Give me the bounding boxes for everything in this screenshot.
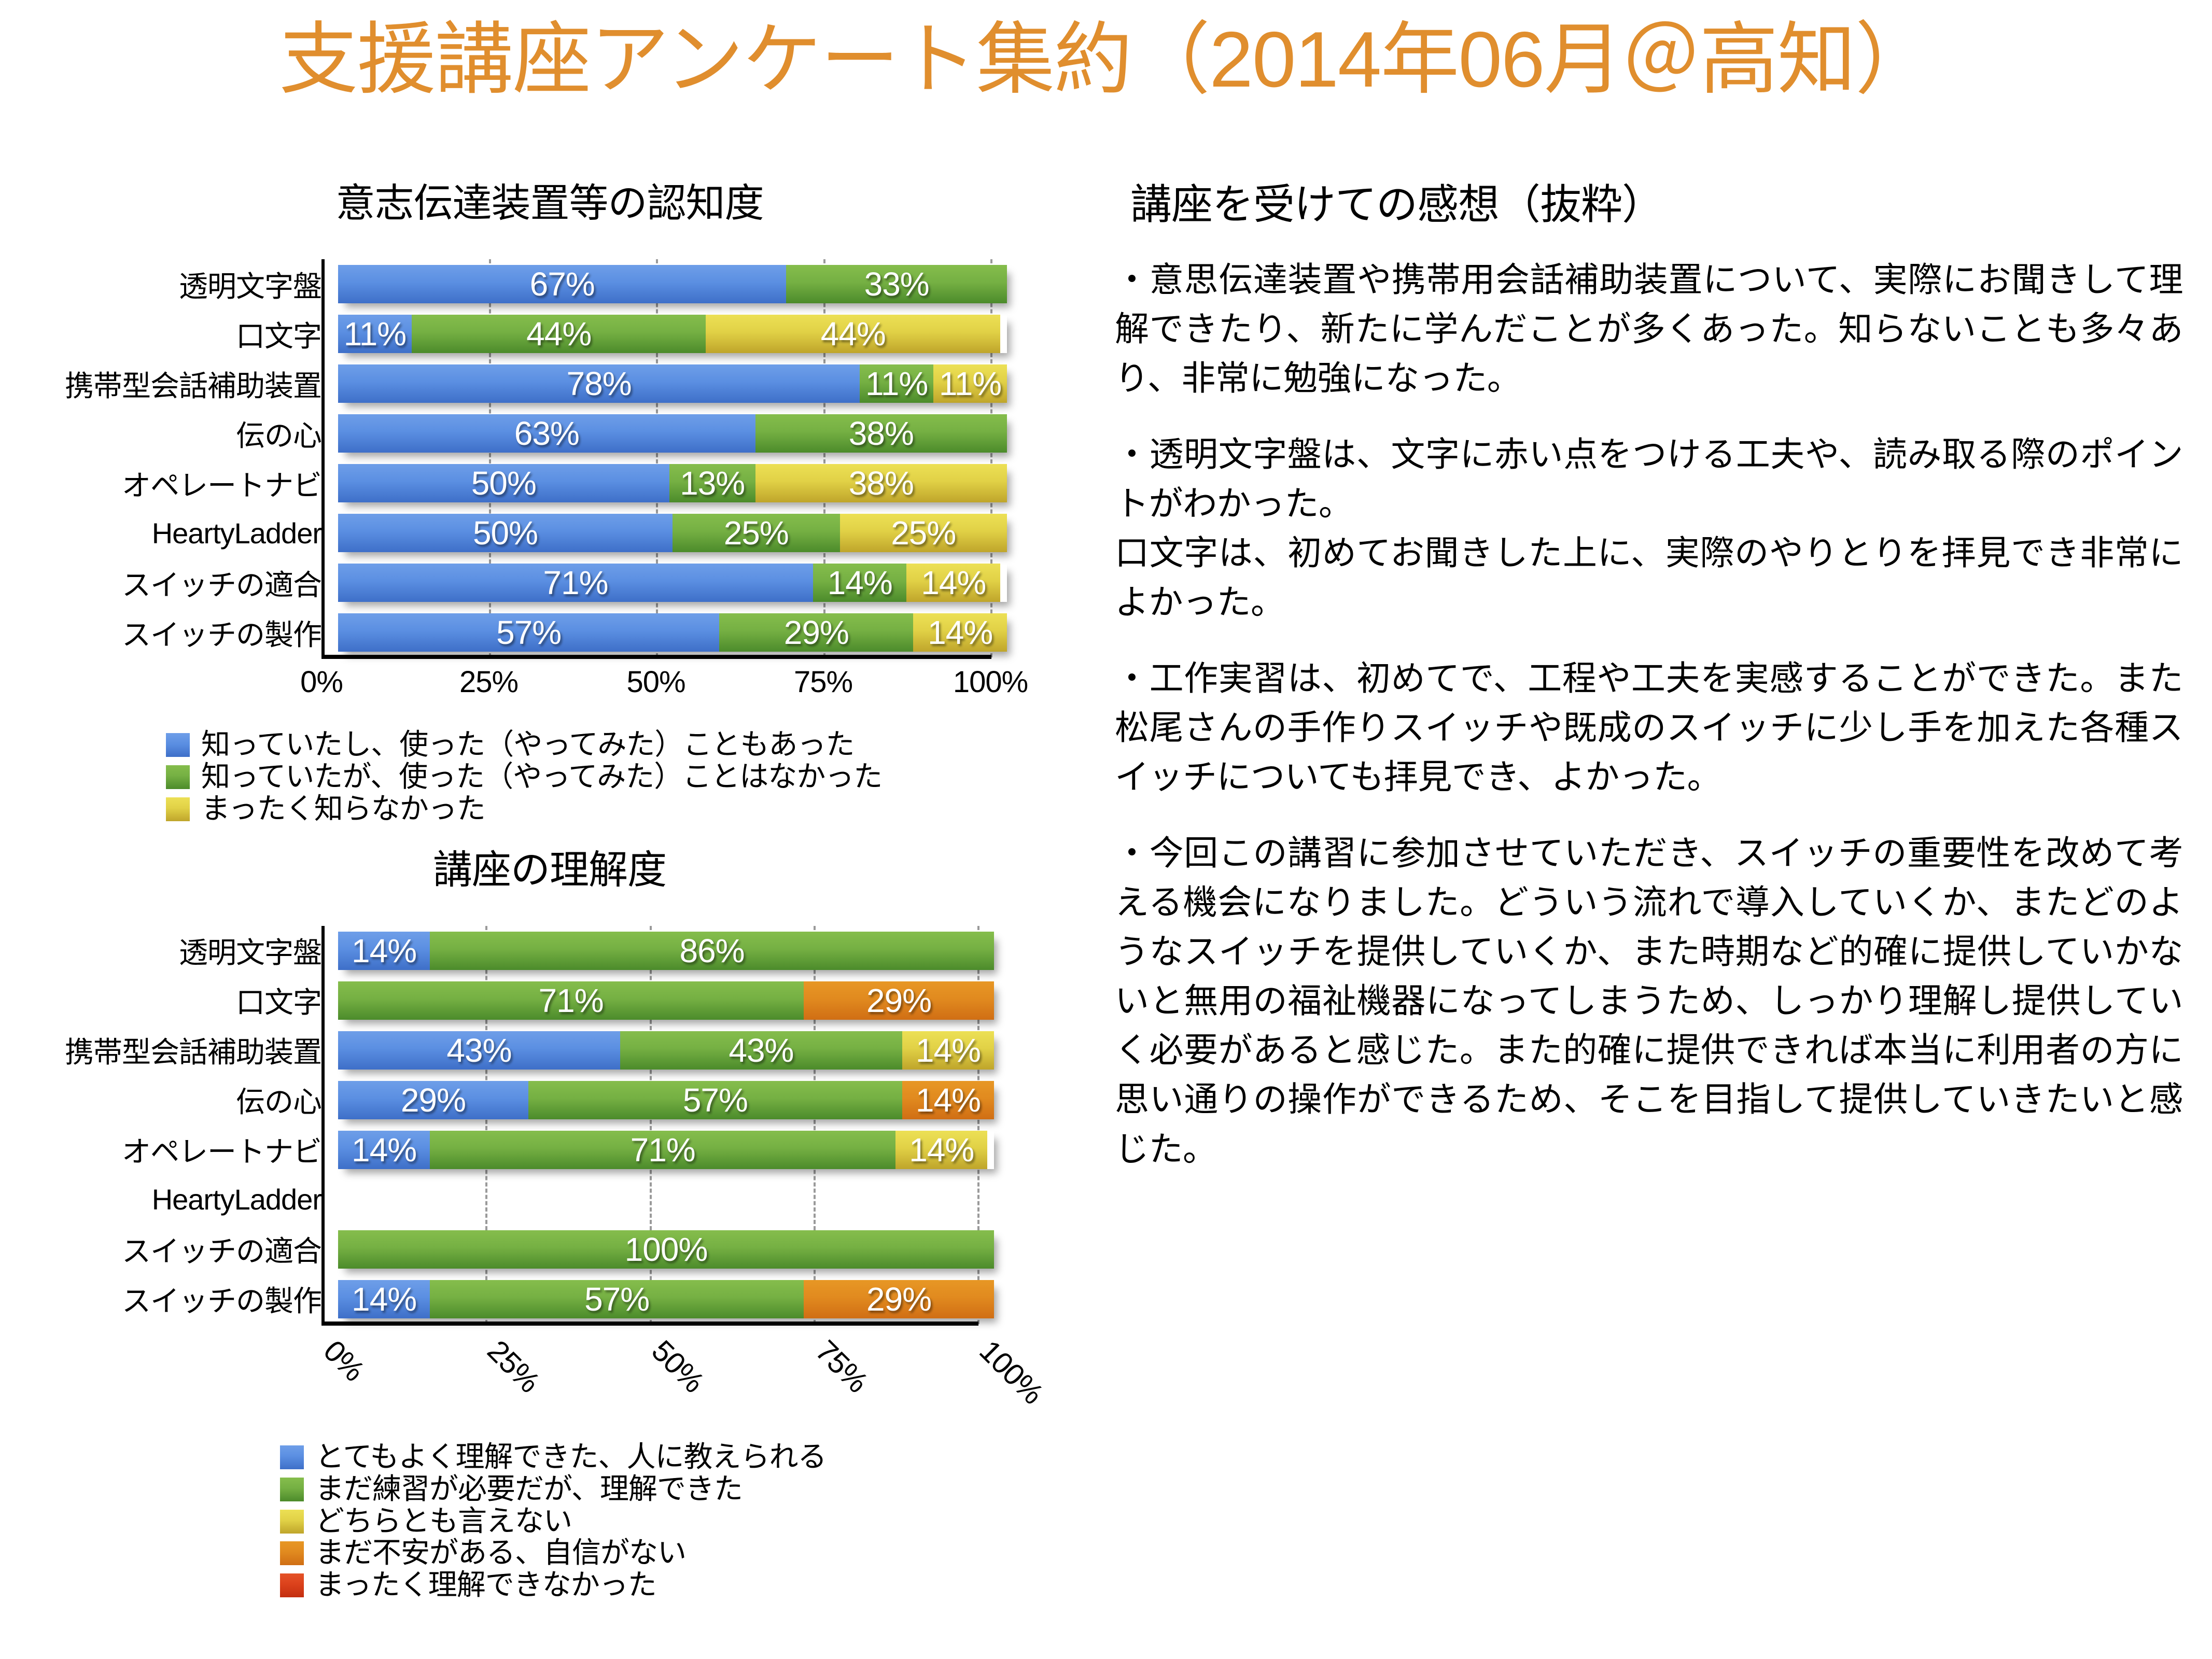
- x-axis-tick-label: 75%: [794, 665, 852, 699]
- bar-value-label: 33%: [864, 265, 929, 303]
- chart-awareness-legend: 知っていたし、使った（やってみた）こともあった知っていたが、使った（やってみた）…: [0, 729, 1099, 824]
- bar-value-label: 44%: [821, 315, 886, 353]
- bar-segment: 14%: [813, 564, 907, 602]
- bar-value-label: 71%: [539, 981, 604, 1020]
- bar-segment: 11%: [933, 364, 1007, 403]
- bar-category-label: 透明文字盤: [0, 930, 335, 972]
- bar-row: オペレートナビ50%13%38%: [0, 458, 1011, 508]
- impression-paragraph: ・今回この講習に参加させていただき、スイッチの重要性を改めて考える機会になりまし…: [1115, 828, 2183, 1173]
- bar-segment: 14%: [895, 1131, 987, 1169]
- bar-track: 71%14%14%: [338, 564, 1007, 602]
- bar-track: 63%38%: [338, 414, 1007, 453]
- legend-swatch-yellow: [166, 797, 190, 821]
- bar-segment: 71%: [338, 564, 813, 602]
- bar-track: 78%11%11%: [338, 364, 1007, 403]
- bar-segment: 44%: [706, 315, 1000, 353]
- bar-segment: 11%: [860, 364, 933, 403]
- bar-row: 伝の心63%38%: [0, 409, 1011, 458]
- bar-row: HeartyLadder: [0, 1175, 998, 1225]
- page-title: 支援講座アンケート集約（2014年06月＠高知）: [0, 15, 2212, 105]
- bar-value-label: 43%: [446, 1031, 511, 1070]
- bar-value-label: 14%: [352, 932, 416, 970]
- bar-category-label: HeartyLadder: [0, 516, 335, 550]
- bar-value-label: 71%: [631, 1131, 695, 1169]
- bar-row: 伝の心29%57%14%: [0, 1075, 998, 1125]
- legend-item[interactable]: まだ練習が必要だが、理解できた: [280, 1473, 1099, 1505]
- bar-value-label: 11%: [344, 315, 406, 353]
- bar-segment: 38%: [755, 464, 1007, 502]
- bar-value-label: 25%: [891, 514, 956, 552]
- legend-item[interactable]: まったく知らなかった: [166, 793, 1099, 824]
- bar-segment: 14%: [338, 1280, 430, 1318]
- bar-category-label: 口文字: [0, 979, 335, 1021]
- bar-segment: 13%: [669, 464, 755, 502]
- x-axis-tick-label: 0%: [300, 665, 343, 699]
- bar-row: スイッチの製作14%57%29%: [0, 1274, 998, 1324]
- bar-value-label: 14%: [352, 1280, 416, 1318]
- legend-swatch-red: [280, 1573, 304, 1597]
- bar-value-label: 38%: [849, 414, 914, 453]
- bar-row: 透明文字盤67%33%: [0, 259, 1011, 309]
- bar-row: オペレートナビ14%71%14%: [0, 1125, 998, 1175]
- bar-value-label: 14%: [828, 564, 892, 602]
- legend-swatch-green: [280, 1478, 304, 1501]
- bar-segment: 67%: [338, 265, 786, 303]
- bar-category-label: 伝の心: [0, 413, 335, 455]
- bar-row: 携帯型会話補助装置43%43%14%: [0, 1025, 998, 1075]
- bar-segment: 50%: [338, 514, 673, 552]
- bar-segment: 86%: [430, 932, 994, 970]
- bar-value-label: 57%: [496, 613, 561, 652]
- bar-value-label: 29%: [866, 981, 931, 1020]
- x-axis-tick-label: 100%: [953, 665, 1028, 699]
- bar-segment: 57%: [528, 1081, 902, 1119]
- bar-track: 67%33%: [338, 265, 1007, 303]
- bar-segment: 44%: [412, 315, 706, 353]
- bar-row: HeartyLadder50%25%25%: [0, 508, 1011, 558]
- legend-item[interactable]: 知っていたが、使った（やってみた）ことはなかった: [166, 761, 1099, 792]
- bar-track: 14%71%14%: [338, 1131, 994, 1169]
- bar-segment: 63%: [338, 414, 755, 453]
- bar-category-label: HeartyLadder: [0, 1183, 335, 1216]
- bar-segment: 38%: [755, 414, 1007, 453]
- legend-label: 知っていたが、使った（やってみた）ことはなかった: [201, 761, 882, 792]
- legend-label: まったく理解できなかった: [315, 1569, 656, 1600]
- chart-comprehension-legend: とてもよく理解できた、人に教えられるまだ練習が必要だが、理解できたどちらとも言え…: [0, 1441, 1099, 1601]
- bar-value-label: 71%: [543, 564, 608, 602]
- impression-paragraph: ・意思伝達装置や携帯用会話補助装置について、実際にお聞きして理解できたり、新たに…: [1115, 255, 2183, 403]
- x-axis-tick-label: 25%: [481, 1333, 547, 1399]
- impressions-heading: 講座を受けての感想（抜粋）: [1130, 171, 2183, 231]
- bar-value-label: 14%: [921, 564, 986, 602]
- bar-category-label: 伝の心: [0, 1079, 335, 1121]
- chart-comprehension-xaxis: 0%25%50%75%100%: [0, 1333, 1099, 1437]
- legend-item[interactable]: まだ不安がある、自信がない: [280, 1537, 1099, 1568]
- chart-awareness-title: 意志伝達装置等の認知度: [0, 171, 1099, 228]
- bar-value-label: 50%: [473, 514, 538, 552]
- bar-segment: 57%: [430, 1280, 804, 1318]
- bar-category-label: スイッチの製作: [0, 1278, 335, 1320]
- bar-value-label: 57%: [584, 1280, 649, 1318]
- bar-value-label: 100%: [625, 1230, 708, 1269]
- bar-segment: 14%: [906, 564, 1000, 602]
- bar-value-label: 43%: [729, 1031, 793, 1070]
- bar-value-label: 29%: [866, 1280, 931, 1318]
- bar-row: スイッチの適合71%14%14%: [0, 558, 1011, 608]
- chart-awareness-plot: 透明文字盤67%33%口文字11%44%44%携帯型会話補助装置78%11%11…: [0, 259, 1099, 657]
- bar-track: 11%44%44%: [338, 315, 1007, 353]
- bar-value-label: 11%: [865, 364, 928, 403]
- charts-column: 意志伝達装置等の認知度 透明文字盤67%33%口文字11%44%44%携帯型会話…: [0, 171, 1099, 1659]
- bar-value-label: 67%: [530, 265, 595, 303]
- bar-value-label: 11%: [939, 364, 1001, 403]
- bar-value-label: 63%: [514, 414, 579, 453]
- bar-segment: 14%: [913, 613, 1007, 652]
- chart-comprehension-plot: 透明文字盤14%86%口文字71%29%携帯型会話補助装置43%43%14%伝の…: [0, 926, 1099, 1324]
- bar-segment: 100%: [338, 1230, 994, 1269]
- chart-comprehension-title: 講座の理解度: [0, 838, 1099, 895]
- bar-track: 14%86%: [338, 932, 994, 970]
- bar-track: 50%13%38%: [338, 464, 1007, 502]
- chart-comprehension: 講座の理解度 透明文字盤14%86%口文字71%29%携帯型会話補助装置43%4…: [0, 838, 1099, 1601]
- bar-segment: 50%: [338, 464, 669, 502]
- legend-item[interactable]: 知っていたし、使った（やってみた）こともあった: [166, 729, 1099, 760]
- bar-segment: 29%: [804, 1280, 994, 1318]
- bar-value-label: 13%: [680, 464, 745, 502]
- legend-label: まだ不安がある、自信がない: [315, 1537, 686, 1568]
- legend-item[interactable]: とてもよく理解できた、人に教えられる: [280, 1441, 1099, 1472]
- bar-row: スイッチの製作57%29%14%: [0, 608, 1011, 657]
- bar-category-label: オペレートナビ: [0, 1129, 335, 1171]
- bar-segment: 78%: [338, 364, 860, 403]
- bar-segment: 11%: [338, 315, 412, 353]
- impressions-column: 講座を受けての感想（抜粋） ・意思伝達装置や携帯用会話補助装置について、実際にお…: [1115, 171, 2183, 1201]
- legend-label: とてもよく理解できた、人に教えられる: [315, 1441, 827, 1472]
- legend-label: どちらとも言えない: [315, 1506, 572, 1537]
- impression-paragraph: 口文字は、初めてお聞きした上に、実際のやりとりを拝見でき非常によかった。: [1115, 528, 2183, 627]
- bar-segment: 14%: [338, 932, 430, 970]
- legend-swatch-yellow: [280, 1510, 304, 1534]
- impression-paragraph: ・透明文字盤は、文字に赤い点をつける工夫や、読み取る際のポイントがわかった。: [1115, 430, 2183, 528]
- x-axis-tick-label: 100%: [973, 1333, 1050, 1411]
- bar-segment: 14%: [338, 1131, 430, 1169]
- bar-row: 携帯型会話補助装置78%11%11%: [0, 359, 1011, 409]
- bar-value-label: 44%: [526, 315, 591, 353]
- bar-value-label: 29%: [784, 613, 849, 652]
- bar-category-label: スイッチの適合: [0, 1228, 335, 1270]
- bar-segment: 25%: [840, 514, 1007, 552]
- bar-segment: 43%: [338, 1031, 620, 1070]
- legend-label: 知っていたし、使った（やってみた）こともあった: [201, 729, 854, 760]
- bar-track: 43%43%14%: [338, 1031, 994, 1070]
- bar-track: 50%25%25%: [338, 514, 1007, 552]
- bar-track: 100%: [338, 1230, 994, 1269]
- bar-value-label: 14%: [928, 613, 992, 652]
- bar-category-label: 透明文字盤: [0, 263, 335, 305]
- bar-track: 14%57%29%: [338, 1280, 994, 1318]
- bar-row: 透明文字盤14%86%: [0, 926, 998, 976]
- bar-segment: 71%: [430, 1131, 895, 1169]
- bar-value-label: 57%: [683, 1081, 748, 1119]
- x-axis-tick-label: 50%: [645, 1333, 710, 1399]
- bar-segment: 29%: [804, 981, 994, 1020]
- bar-segment: 14%: [902, 1031, 994, 1070]
- bar-value-label: 38%: [849, 464, 914, 502]
- x-axis-tick-label: 50%: [626, 665, 685, 699]
- bar-track: 57%29%14%: [338, 613, 1007, 652]
- bar-category-label: 口文字: [0, 313, 335, 355]
- impressions-body: ・意思伝達装置や携帯用会話補助装置について、実際にお聞きして理解できたり、新たに…: [1115, 255, 2183, 1174]
- bar-row: 口文字11%44%44%: [0, 309, 1011, 359]
- bar-category-label: 携帯型会話補助装置: [0, 1029, 335, 1071]
- bar-segment: 29%: [719, 613, 913, 652]
- bar-value-label: 25%: [724, 514, 789, 552]
- bar-value-label: 14%: [909, 1131, 974, 1169]
- bar-value-label: 14%: [352, 1131, 416, 1169]
- legend-swatch-blue: [166, 733, 190, 757]
- bar-segment: 71%: [338, 981, 804, 1020]
- bar-row: スイッチの適合100%: [0, 1225, 998, 1274]
- legend-swatch-green: [166, 765, 190, 789]
- bar-value-label: 14%: [916, 1031, 981, 1070]
- legend-item[interactable]: どちらとも言えない: [280, 1506, 1099, 1537]
- x-axis-tick-label: 0%: [317, 1333, 371, 1388]
- bar-track: 71%29%: [338, 981, 994, 1020]
- legend-label: まったく知らなかった: [201, 793, 485, 824]
- bar-track: [338, 1180, 994, 1219]
- bar-track: 29%57%14%: [338, 1081, 994, 1119]
- bar-value-label: 78%: [567, 364, 632, 403]
- legend-item[interactable]: まったく理解できなかった: [280, 1569, 1099, 1600]
- bar-value-label: 14%: [916, 1081, 981, 1119]
- bar-category-label: スイッチの適合: [0, 562, 335, 604]
- bar-segment: 33%: [786, 265, 1007, 303]
- chart-awareness: 意志伝達装置等の認知度 透明文字盤67%33%口文字11%44%44%携帯型会話…: [0, 171, 1099, 824]
- impression-paragraph: ・工作実習は、初めてで、工程や工夫を実感することができた。また松尾さんの手作りス…: [1115, 654, 2183, 802]
- x-axis-tick-label: 75%: [808, 1333, 874, 1399]
- bar-segment: 14%: [902, 1081, 994, 1119]
- bar-value-label: 50%: [471, 464, 536, 502]
- legend-swatch-orange: [280, 1541, 304, 1565]
- bar-value-label: 86%: [679, 932, 744, 970]
- chart-awareness-xaxis: 0%25%50%75%100%: [0, 665, 1099, 711]
- bar-segment: 29%: [338, 1081, 528, 1119]
- legend-label: まだ練習が必要だが、理解できた: [315, 1473, 743, 1505]
- bar-row: 口文字71%29%: [0, 976, 998, 1025]
- bar-category-label: スイッチの製作: [0, 612, 335, 654]
- bar-segment: 43%: [620, 1031, 902, 1070]
- bar-segment: 57%: [338, 613, 719, 652]
- x-axis-tick-label: 25%: [459, 665, 518, 699]
- legend-swatch-blue: [280, 1445, 304, 1469]
- bar-segment: 25%: [673, 514, 840, 552]
- bar-value-label: 29%: [401, 1081, 466, 1119]
- bar-category-label: オペレートナビ: [0, 462, 335, 504]
- bar-category-label: 携帯型会話補助装置: [0, 363, 335, 405]
